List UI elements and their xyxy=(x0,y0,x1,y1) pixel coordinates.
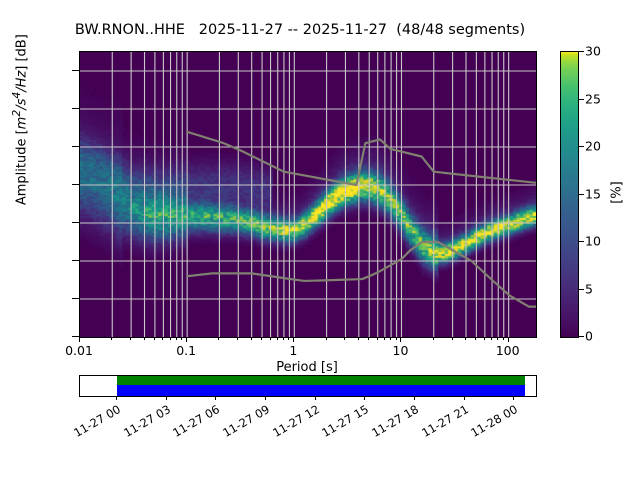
colorbar-tick-label: 10 xyxy=(585,234,601,249)
timeline-tick-label: 11-27 00 xyxy=(62,402,123,445)
data-coverage-band xyxy=(117,376,525,385)
timeline-tick-label: 11-27 18 xyxy=(360,402,421,445)
y-tick-mark xyxy=(72,260,79,261)
colorbar-label: [%] xyxy=(610,148,625,238)
timeline-tick-label: 11-28 00 xyxy=(460,402,521,445)
colorbar-tick-mark xyxy=(578,146,584,147)
timeline-tick-label: 11-27 21 xyxy=(410,402,471,445)
timeline-tick-label: 11-27 06 xyxy=(162,402,223,445)
colorbar-tick-mark xyxy=(578,289,584,290)
x-tick-label: 0.1 xyxy=(151,343,221,358)
timeline-tick-label: 11-27 15 xyxy=(311,402,372,445)
psd-segments-band xyxy=(117,385,525,396)
colorbar-tick-label: 5 xyxy=(585,281,593,296)
noise-model-curves xyxy=(80,52,536,337)
timeline-tick-mark xyxy=(265,396,266,400)
x-tick-label: 10 xyxy=(365,343,435,358)
x-axis-label: Period [s] xyxy=(79,360,535,375)
y-tick-mark xyxy=(72,298,79,299)
y-tick-mark xyxy=(72,336,79,337)
colorbar-tick-mark xyxy=(578,336,584,337)
timeline-tick-mark xyxy=(414,396,415,400)
x-tick-label: 100 xyxy=(473,343,543,358)
colorbar-tick-mark xyxy=(578,241,584,242)
colorbar-tick-label: 0 xyxy=(585,329,593,344)
timeline-tick-mark xyxy=(166,396,167,400)
colorbar-tick-mark xyxy=(578,99,584,100)
timeline-tick-mark xyxy=(116,396,117,400)
colorbar-tick-label: 20 xyxy=(585,139,601,154)
timeline-tick-label: 11-27 12 xyxy=(261,402,322,445)
ppsd-figure: BW.RNON..HHE 2025-11-27 -- 2025-11-27 (4… xyxy=(0,0,640,480)
ppsd-plot-inner xyxy=(80,52,536,337)
x-tick-label: 0.01 xyxy=(44,343,114,358)
y-axis-label: Amplitude [m2/s4/Hz] [dB] xyxy=(10,0,29,300)
timeline-tick-mark xyxy=(364,396,365,400)
colorbar-tick-mark xyxy=(578,194,584,195)
colorbar-tick-label: 25 xyxy=(585,91,601,106)
y-tick-mark xyxy=(72,70,79,71)
colorbar-tick-mark xyxy=(578,51,584,52)
y-tick-mark xyxy=(72,222,79,223)
x-tick-label: 1 xyxy=(258,343,328,358)
y-tick-mark xyxy=(72,146,79,147)
timeline-inner xyxy=(80,376,536,396)
timeline-coverage-axes[interactable] xyxy=(79,375,537,397)
timeline-tick-mark xyxy=(215,396,216,400)
timeline-tick-mark xyxy=(513,396,514,400)
colorbar-tick-label: 30 xyxy=(585,44,601,59)
ppsd-plot-area[interactable] xyxy=(79,51,537,338)
page-title: BW.RNON..HHE 2025-11-27 -- 2025-11-27 (4… xyxy=(0,22,600,38)
y-tick-mark xyxy=(72,108,79,109)
y-tick-mark xyxy=(72,184,79,185)
timeline-tick-label: 11-27 09 xyxy=(211,402,272,445)
timeline-tick-mark xyxy=(464,396,465,400)
colorbar[interactable] xyxy=(560,51,579,338)
colorbar-tick-label: 15 xyxy=(585,186,601,201)
timeline-tick-mark xyxy=(315,396,316,400)
